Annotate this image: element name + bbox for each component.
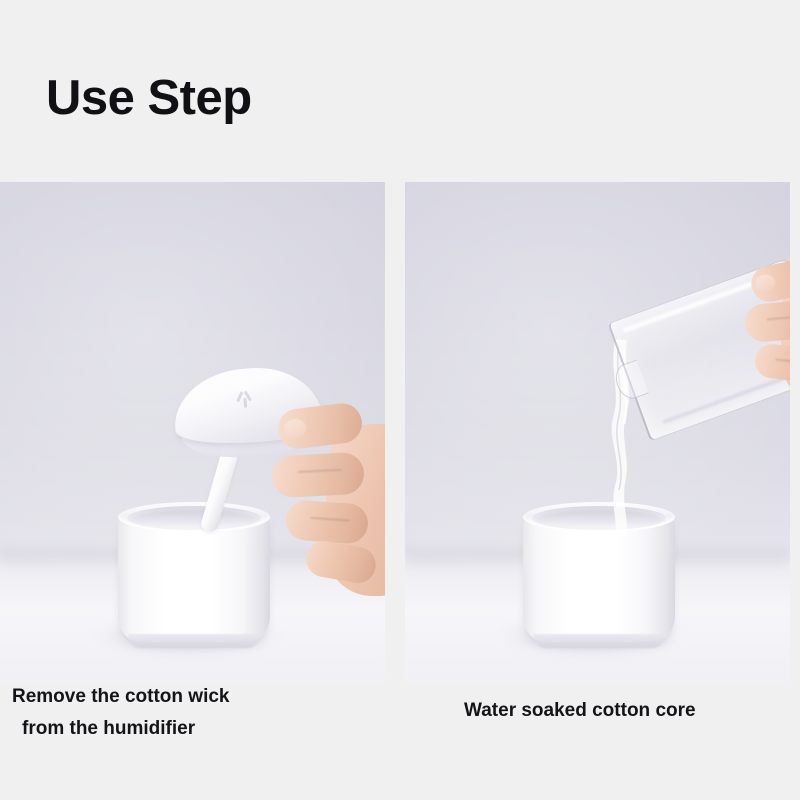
step-1-caption-line-2: from the humidifier bbox=[22, 714, 195, 743]
finger bbox=[285, 499, 370, 545]
cup-foot bbox=[128, 634, 260, 648]
hand bbox=[745, 258, 790, 408]
finger bbox=[748, 255, 790, 305]
steps-gallery bbox=[0, 182, 800, 682]
cup-foot bbox=[533, 634, 665, 648]
step-photo-1 bbox=[0, 182, 385, 682]
page-title: Use Step bbox=[46, 74, 252, 123]
brand-logo-icon bbox=[235, 390, 256, 409]
finger bbox=[753, 343, 790, 384]
cup-interior-shadow bbox=[537, 510, 661, 528]
finger bbox=[743, 299, 790, 344]
white-cup bbox=[523, 502, 675, 650]
step-1-caption-line-1: Remove the cotton wick bbox=[12, 682, 230, 711]
step-photo-2 bbox=[405, 182, 790, 682]
hand bbox=[272, 398, 385, 608]
cup-body bbox=[523, 516, 675, 642]
finger bbox=[271, 452, 365, 499]
infographic-page: Use Step bbox=[0, 0, 800, 800]
step-2-caption: Water soaked cotton core bbox=[464, 696, 696, 725]
